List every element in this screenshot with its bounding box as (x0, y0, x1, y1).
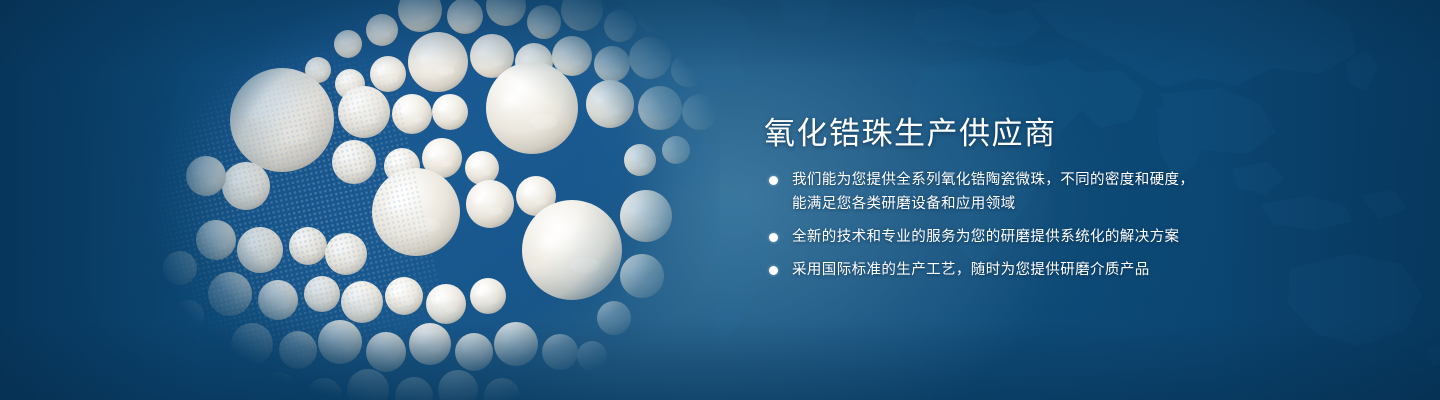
list-item: 全新的技术和专业的服务为您的研磨提供系统化的解决方案 (762, 225, 1194, 249)
bullet-text-line-1: 全新的技术和专业的服务为您的研磨提供系统化的解决方案 (792, 225, 1194, 249)
bullet-text-line-2: 能满足您各类研磨设备和应用领域 (792, 192, 1194, 216)
zirconia-beads-photo (120, 0, 720, 400)
bullet-text-line-1: 我们能为您提供全系列氧化锆陶瓷微珠，不同的密度和硬度， (792, 168, 1194, 192)
bullet-dot-icon (769, 233, 778, 242)
bullet-dot-icon (769, 266, 778, 275)
bullet-dot-icon (769, 176, 778, 185)
list-item: 采用国际标准的生产工艺，随时为您提供研磨介质产品 (762, 258, 1194, 282)
hero-banner: 氧化锆珠生产供应商 我们能为您提供全系列氧化锆陶瓷微珠，不同的密度和硬度， 能满… (0, 0, 1440, 400)
page-title: 氧化锆珠生产供应商 (764, 108, 1057, 153)
banner-copy: 氧化锆珠生产供应商 我们能为您提供全系列氧化锆陶瓷微珠，不同的密度和硬度， 能满… (762, 0, 1362, 400)
list-item: 我们能为您提供全系列氧化锆陶瓷微珠，不同的密度和硬度， 能满足您各类研磨设备和应… (762, 168, 1194, 216)
feature-bullet-list: 我们能为您提供全系列氧化锆陶瓷微珠，不同的密度和硬度， 能满足您各类研磨设备和应… (762, 168, 1194, 282)
bullet-text-line-1: 采用国际标准的生产工艺，随时为您提供研磨介质产品 (792, 258, 1194, 282)
